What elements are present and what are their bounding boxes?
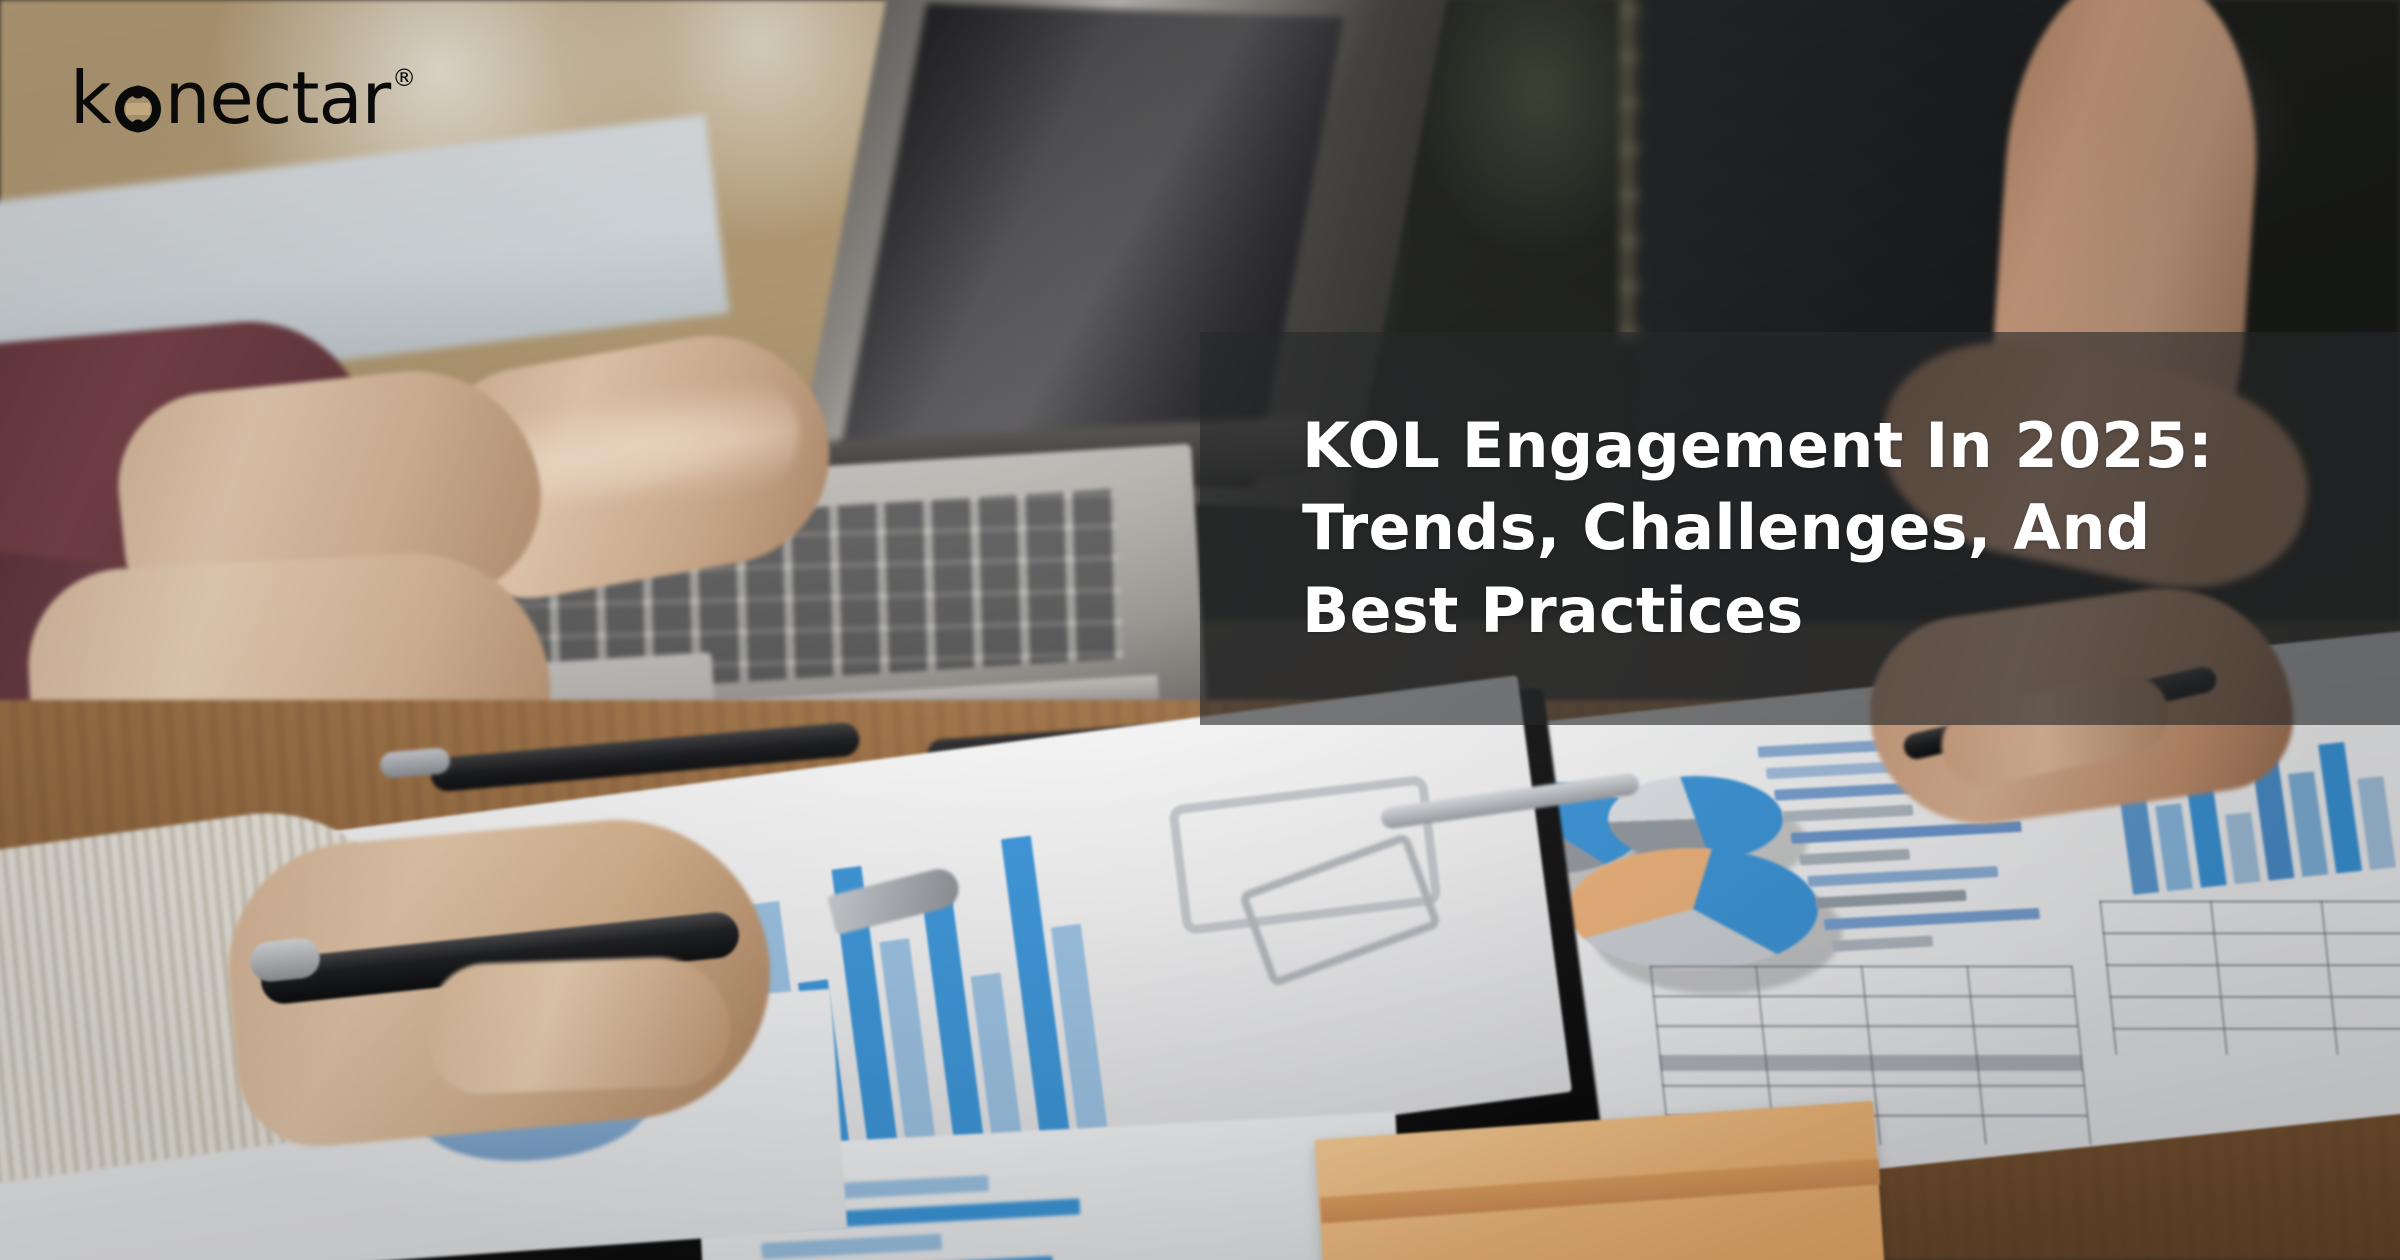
bar-item [2288,771,2328,877]
bar-item [2155,803,2193,891]
report-right-table-secondary [2099,901,2400,1090]
konectar-node-o-icon [112,72,164,124]
konectar-logo[interactable]: k nectar ® [70,62,416,134]
bar-item [1824,908,2040,930]
title-overlay-panel: KOL Engagement In 2025: Trends, Challeng… [1200,332,2400,725]
hero-banner: k nectar ® KOL Engagement In 2025: Trend… [0,0,2400,1260]
bar-item [761,1234,942,1259]
bar-item [2225,812,2261,884]
bar-item [1791,821,2022,844]
page-title-line-2: Trends, Challenges, And [1302,487,2213,569]
logo-text-k: k [70,62,111,134]
logo-text-nectar: nectar [165,62,390,134]
bar-item [1807,866,1998,887]
pen-holder-thumb [428,955,732,1095]
page-title: KOL Engagement In 2025: Trends, Challeng… [1302,405,2213,652]
bar-item [2357,776,2396,870]
page-title-line-1: KOL Engagement In 2025: [1302,405,2213,487]
bar-item [1799,849,1910,866]
bar-item [1816,890,1967,909]
registered-trademark-icon: ® [392,66,416,90]
bar-item [1782,805,1913,823]
bar-item [1832,936,1933,952]
logo-wordmark: k nectar [70,62,390,134]
page-title-line-3: Best Practices [1302,570,2213,652]
